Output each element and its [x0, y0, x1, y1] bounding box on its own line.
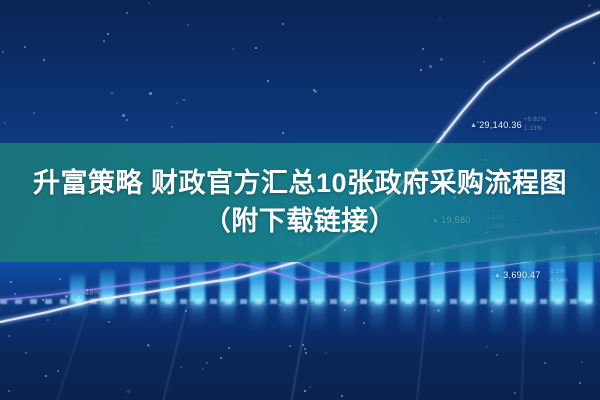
chart-value-label: ▲3,690.47: [494, 270, 541, 280]
micro-readout-top: +0.82%1.13%: [524, 116, 546, 134]
micro-readout-bottom: -1.1%-0.04%: [548, 268, 569, 286]
caret-up-icon: ▲: [470, 122, 477, 129]
title-band: 升富策略 财政官方汇总10张政府采购流程图（附下载链接）: [0, 143, 600, 262]
chart-value-label-text: -48%: [82, 288, 101, 297]
chart-value-label: -48%: [82, 288, 101, 297]
chart-value-label: ▲29,140.36: [470, 120, 522, 130]
caret-up-icon: ▲: [494, 272, 501, 279]
banner-image: ▲29,140.36▲19,580▲3,690.47▲7,465.67-0.6%…: [0, 0, 600, 400]
chart-value-label-text: 29,140.36: [479, 120, 522, 130]
chart-value-label-text: 3,690.47: [503, 270, 540, 280]
page-title: 升富策略 财政官方汇总10张政府采购流程图（附下载链接）: [20, 165, 580, 240]
